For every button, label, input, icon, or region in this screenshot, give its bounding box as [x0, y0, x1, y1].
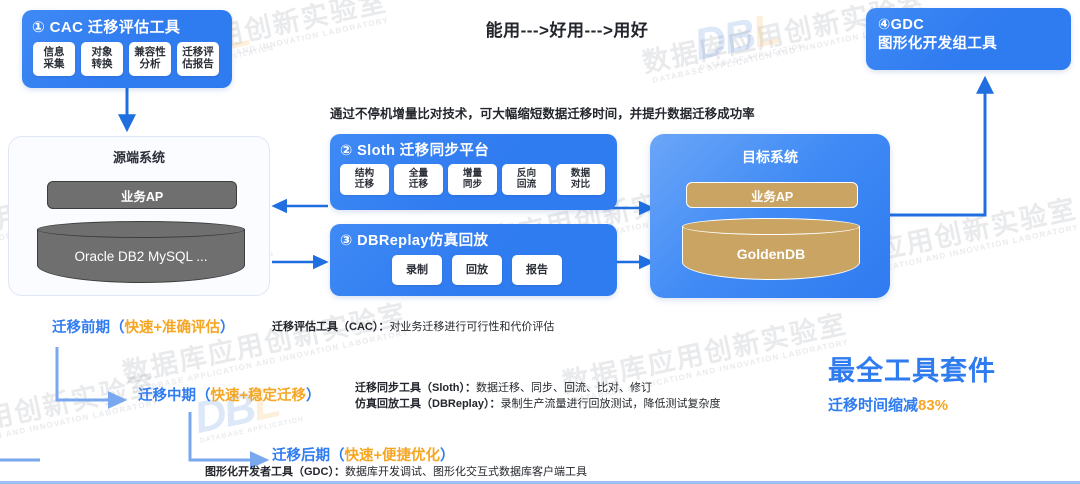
phase-desc-text: 数据库开发调试、图形化交互式数据库客户端工具	[345, 466, 587, 478]
phase-title: 迁移后期	[272, 448, 330, 464]
dbreplay-chip-row: 录制 回放 报告	[330, 250, 617, 285]
source-database-cylinder: Oracle DB2 MySQL ...	[37, 221, 245, 283]
phase-desc-bold: 迁移同步工具（Sloth）：	[355, 382, 476, 394]
source-app-block: 业务AP	[47, 181, 237, 209]
dbreplay-chip[interactable]: 报告	[512, 255, 562, 285]
phase-desc-text-2: 录制生产流量进行回放测试，降低测试复杂度	[500, 398, 720, 410]
cylinder-top	[37, 221, 245, 238]
phase-paren-open: （	[196, 388, 211, 404]
phase-paren-close: ）	[440, 448, 455, 464]
phase-label-mid: 迁移中期（快速+稳定迁移）	[138, 384, 320, 405]
sloth-title: ② Sloth 迁移同步平台	[330, 134, 617, 160]
cac-chip[interactable]: 信息采集	[33, 42, 75, 76]
cac-title: ① CAC 迁移评估工具	[22, 10, 232, 37]
sloth-chip[interactable]: 全量迁移	[394, 164, 443, 195]
phase-desc-late: 图形化开发者工具（GDC）：数据库开发调试、图形化交互式数据库客户端工具	[205, 465, 587, 481]
target-system-card: 目标系统 业务AP GoldenDB	[650, 134, 890, 298]
summary-headline: 最全工具套件	[828, 356, 996, 387]
phase-desc-line: 仿真回放工具（DBReplay）：录制生产流量进行回放测试，降低测试复杂度	[355, 397, 720, 413]
sloth-platform-card[interactable]: ② Sloth 迁移同步平台 结构迁移 全量迁移 增量同步 反向回流 数据对比	[330, 134, 617, 210]
phase-desc-text: 对业务迁移进行可行性和代价评估	[389, 321, 554, 333]
phase-connector-2	[190, 412, 266, 460]
sloth-chip[interactable]: 结构迁移	[340, 164, 389, 195]
phase-highlight: 快速+准确评估	[125, 320, 220, 336]
cac-chip[interactable]: 对象转换	[81, 42, 123, 76]
sloth-chip[interactable]: 增量同步	[448, 164, 497, 195]
dbreplay-card[interactable]: ③ DBReplay仿真回放 录制 回放 报告	[330, 224, 617, 296]
phase-desc-line: 迁移同步工具（Sloth）：数据迁移、同步、回流、比对、修订	[355, 381, 720, 397]
dbreplay-chip[interactable]: 回放	[452, 255, 502, 285]
phase-paren-open: （	[330, 448, 345, 464]
phase-highlight: 快速+稳定迁移	[211, 388, 306, 404]
subtitle-text: 通过不停机增量比对技术，可大幅缩短数据迁移时间，并提升数据迁移成功率	[330, 104, 890, 122]
summary-block: 最全工具套件 迁移时间缩减83%	[828, 356, 996, 415]
phase-desc-early: 迁移评估工具（CAC）：对业务迁移进行可行性和代价评估	[272, 320, 554, 336]
diagram-canvas: 数据库应用创新实验室DATABASE APPLICATION AND INNOV…	[0, 0, 1080, 484]
source-system-title: 源端系统	[9, 147, 269, 166]
phase-desc-bold-2: 仿真回放工具（DBReplay）：	[355, 398, 500, 410]
target-database-cylinder: GoldenDB	[682, 218, 860, 280]
target-system-title: 目标系统	[650, 147, 890, 167]
dbreplay-title: ③ DBReplay仿真回放	[330, 224, 617, 250]
phase-desc-text: 数据迁移、同步、回流、比对、修订	[476, 382, 652, 394]
summary-prefix: 迁移时间缩减	[828, 397, 918, 414]
phase-paren-close: ）	[220, 320, 235, 336]
cac-tool-card[interactable]: ① CAC 迁移评估工具 信息采集 对象转换 兼容性分析 迁移评估报告	[22, 10, 232, 88]
cac-chip[interactable]: 迁移评估报告	[177, 42, 219, 76]
gdc-title: ④GDC图形化开发组工具	[866, 8, 1071, 55]
phase-title: 迁移中期	[138, 388, 196, 404]
phase-paren-open: （	[110, 320, 125, 336]
page-title: 能用--->好用--->用好	[447, 16, 687, 41]
phase-desc-bold: 图形化开发者工具（GDC）：	[205, 466, 345, 478]
phase-title: 迁移前期	[52, 320, 110, 336]
arrow-up-icon	[880, 80, 985, 215]
cylinder-top	[682, 218, 860, 235]
target-database-label: GoldenDB	[682, 246, 860, 262]
phase-label-early: 迁移前期（快速+准确评估）	[52, 316, 234, 337]
phase-connector-1	[57, 347, 124, 400]
cac-chip[interactable]: 兼容性分析	[129, 42, 171, 76]
summary-percent: 83%	[918, 397, 948, 414]
dbreplay-chip[interactable]: 录制	[392, 255, 442, 285]
sloth-chip[interactable]: 反向回流	[502, 164, 551, 195]
source-system-card: 源端系统 业务AP Oracle DB2 MySQL ...	[8, 136, 270, 296]
sloth-chip[interactable]: 数据对比	[556, 164, 605, 195]
phase-paren-close: ）	[306, 388, 321, 404]
phase-label-late: 迁移后期（快速+便捷优化）	[272, 444, 454, 465]
sloth-chip-row: 结构迁移 全量迁移 增量同步 反向回流 数据对比	[330, 160, 617, 195]
source-database-label: Oracle DB2 MySQL ...	[37, 249, 245, 264]
summary-subline: 迁移时间缩减83%	[828, 394, 996, 415]
phase-desc-bold: 迁移评估工具（CAC）：	[272, 321, 389, 333]
cac-chip-row: 信息采集 对象转换 兼容性分析 迁移评估报告	[22, 37, 232, 76]
target-app-block: 业务AP	[686, 182, 858, 208]
gdc-tool-card[interactable]: ④GDC图形化开发组工具	[866, 8, 1071, 70]
phase-highlight: 快速+便捷优化	[345, 448, 440, 464]
phase-desc-mid: 迁移同步工具（Sloth）：数据迁移、同步、回流、比对、修订 仿真回放工具（DB…	[355, 381, 720, 413]
